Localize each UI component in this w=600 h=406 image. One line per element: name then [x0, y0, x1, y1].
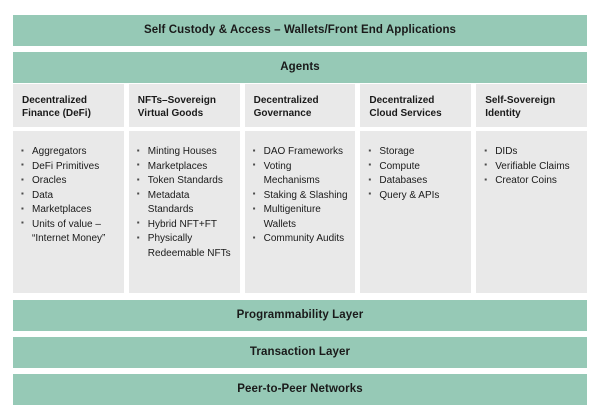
layer-bar-programmability: Programmability Layer	[13, 300, 587, 331]
list-item: Hybrid NFT+FT	[135, 218, 234, 233]
layer-bar-self-custody: Self Custody & Access – Wallets/Front En…	[13, 15, 587, 46]
list-item: Multigeniture Wallets	[251, 203, 350, 232]
column-list-nfts: Minting Houses Marketplaces Token Standa…	[135, 145, 234, 261]
list-item: Storage	[366, 145, 465, 160]
column-body-cloud-services: Storage Compute Databases Query & APIs	[360, 131, 471, 293]
list-item: Creator Coins	[482, 174, 581, 189]
web3-stack-diagram: Self Custody & Access – Wallets/Front En…	[0, 0, 600, 406]
layer-bar-programmability-label: Programmability Layer	[237, 309, 364, 322]
column-header-identity: Self-Sovereign Identity	[476, 84, 587, 127]
column-body-governance: DAO Frameworks Voting Mechanisms Staking…	[245, 131, 356, 293]
list-item: DIDs	[482, 145, 581, 160]
list-item: Compute	[366, 160, 465, 175]
list-item: Physically Redeemable NFTs	[135, 232, 234, 261]
column-title-nfts: NFTs–Sovereign Virtual Goods	[138, 94, 231, 120]
column-header-cloud-services: Decentralized Cloud Services	[360, 84, 471, 127]
column-title-identity: Self-Sovereign Identity	[485, 94, 578, 120]
layer-bar-peer-to-peer-networks-label: Peer-to-Peer Networks	[237, 383, 362, 396]
list-item: Query & APIs	[366, 189, 465, 204]
column-list-cloud-services: Storage Compute Databases Query & APIs	[366, 145, 465, 203]
column-title-governance: Decentralized Governance	[254, 94, 347, 120]
column-body-identity: DIDs Verifiable Claims Creator Coins	[476, 131, 587, 293]
list-item: Voting Mechanisms	[251, 160, 350, 189]
list-item: Marketplaces	[19, 203, 118, 218]
layer-bar-agents: Agents	[13, 52, 587, 83]
application-layer-columns: Decentralized Finance (DeFi) Aggregators…	[13, 84, 587, 293]
list-item: DAO Frameworks	[251, 145, 350, 160]
list-item: Minting Houses	[135, 145, 234, 160]
list-item: Oracles	[19, 174, 118, 189]
list-item: Data	[19, 189, 118, 204]
layer-bar-transaction: Transaction Layer	[13, 337, 587, 368]
layer-bar-agents-label: Agents	[280, 61, 320, 74]
column-title-defi: Decentralized Finance (DeFi)	[22, 94, 115, 120]
column-list-identity: DIDs Verifiable Claims Creator Coins	[482, 145, 581, 189]
column-list-governance: DAO Frameworks Voting Mechanisms Staking…	[251, 145, 350, 247]
column-body-nfts: Minting Houses Marketplaces Token Standa…	[129, 131, 240, 293]
list-item: Staking & Slashing	[251, 189, 350, 204]
column-card-cloud-services: Decentralized Cloud Services Storage Com…	[360, 84, 471, 293]
list-item: Units of value – “Internet Money”	[19, 218, 118, 247]
layer-bar-self-custody-label: Self Custody & Access – Wallets/Front En…	[144, 24, 456, 37]
column-header-nfts: NFTs–Sovereign Virtual Goods	[129, 84, 240, 127]
layer-bar-transaction-label: Transaction Layer	[250, 346, 350, 359]
column-header-governance: Decentralized Governance	[245, 84, 356, 127]
list-item: DeFi Primitives	[19, 160, 118, 175]
list-item: Metadata Standards	[135, 189, 234, 218]
column-body-defi: Aggregators DeFi Primitives Oracles Data…	[13, 131, 124, 293]
column-card-nfts: NFTs–Sovereign Virtual Goods Minting Hou…	[129, 84, 240, 293]
list-item: Aggregators	[19, 145, 118, 160]
list-item: Databases	[366, 174, 465, 189]
list-item: Verifiable Claims	[482, 160, 581, 175]
column-card-defi: Decentralized Finance (DeFi) Aggregators…	[13, 84, 124, 293]
column-header-defi: Decentralized Finance (DeFi)	[13, 84, 124, 127]
list-item: Marketplaces	[135, 160, 234, 175]
column-title-cloud-services: Decentralized Cloud Services	[369, 94, 462, 120]
layer-bar-peer-to-peer-networks: Peer-to-Peer Networks	[13, 374, 587, 405]
list-item: Community Audits	[251, 232, 350, 247]
column-list-defi: Aggregators DeFi Primitives Oracles Data…	[19, 145, 118, 247]
column-card-governance: Decentralized Governance DAO Frameworks …	[245, 84, 356, 293]
column-card-identity: Self-Sovereign Identity DIDs Verifiable …	[476, 84, 587, 293]
list-item: Token Standards	[135, 174, 234, 189]
